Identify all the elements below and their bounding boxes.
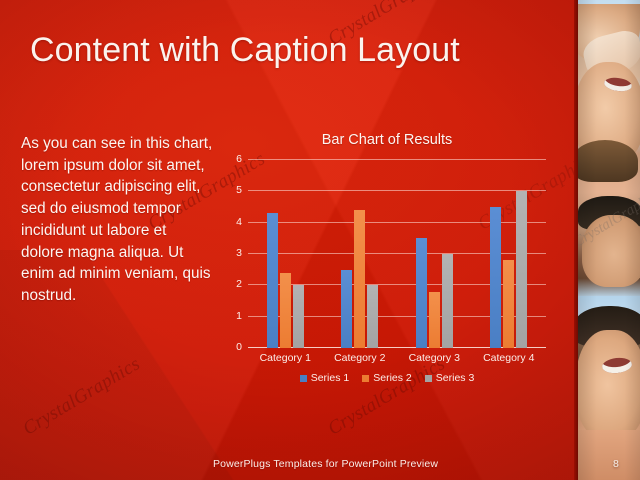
legend-swatch-icon [425,375,432,382]
chart-bar [341,270,352,348]
bar-chart: Bar Chart of Results 0123456 Category 1C… [222,132,552,390]
chart-bar-group [472,160,547,348]
chart-legend-item: Series 1 [300,372,350,384]
chart-y-tick-label: 6 [236,153,242,165]
chart-bar [367,285,378,348]
chart-x-tick-label: Category 2 [323,352,398,364]
legend-label: Series 1 [311,372,350,384]
legend-swatch-icon [300,375,307,382]
photo-strip: CrystalGraphics [578,0,640,480]
chart-bar [429,292,440,348]
chart-y-tick-label: 4 [236,216,242,228]
chart-bar [280,273,291,348]
chart-legend-item: Series 3 [425,372,475,384]
chart-y-tick-label: 5 [236,184,242,196]
legend-swatch-icon [362,375,369,382]
presentation-slide: CrystalGraphics CrystalGraphics CrystalG… [0,0,640,480]
chart-bar [416,238,427,348]
chart-bar [354,210,365,348]
chart-y-tick-label: 3 [236,247,242,259]
chart-title: Bar Chart of Results [222,132,552,148]
chart-bar [503,260,514,348]
chart-y-tick-label: 0 [236,341,242,353]
chart-x-tick-label: Category 4 [472,352,547,364]
chart-y-tick-label: 1 [236,310,242,322]
page-title: Content with Caption Layout [30,30,550,71]
chart-bar-group [397,160,472,348]
chart-bar [293,285,304,348]
chart-bar [267,213,278,348]
chart-plot-area: 0123456 [248,160,546,348]
chart-x-tick-label: Category 1 [248,352,323,364]
chart-bar-groups [248,160,546,348]
chart-legend: Series 1Series 2Series 3 [222,372,552,384]
chart-bar-group [248,160,323,348]
chart-x-axis-labels: Category 1Category 2Category 3Category 4 [248,352,546,364]
caption-text: As you can see in this chart, lorem ipsu… [21,133,213,307]
chart-bar [516,191,527,348]
chart-bar-group [323,160,398,348]
chart-y-tick-label: 2 [236,278,242,290]
chart-bar [490,207,501,348]
footer-text: PowerPlugs Templates for PowerPoint Prev… [213,458,438,470]
legend-label: Series 2 [373,372,412,384]
legend-label: Series 3 [436,372,475,384]
page-number: 8 [613,458,619,470]
chart-x-tick-label: Category 3 [397,352,472,364]
chart-legend-item: Series 2 [362,372,412,384]
smiling-people-photo [578,0,640,480]
chart-bar [442,254,453,348]
